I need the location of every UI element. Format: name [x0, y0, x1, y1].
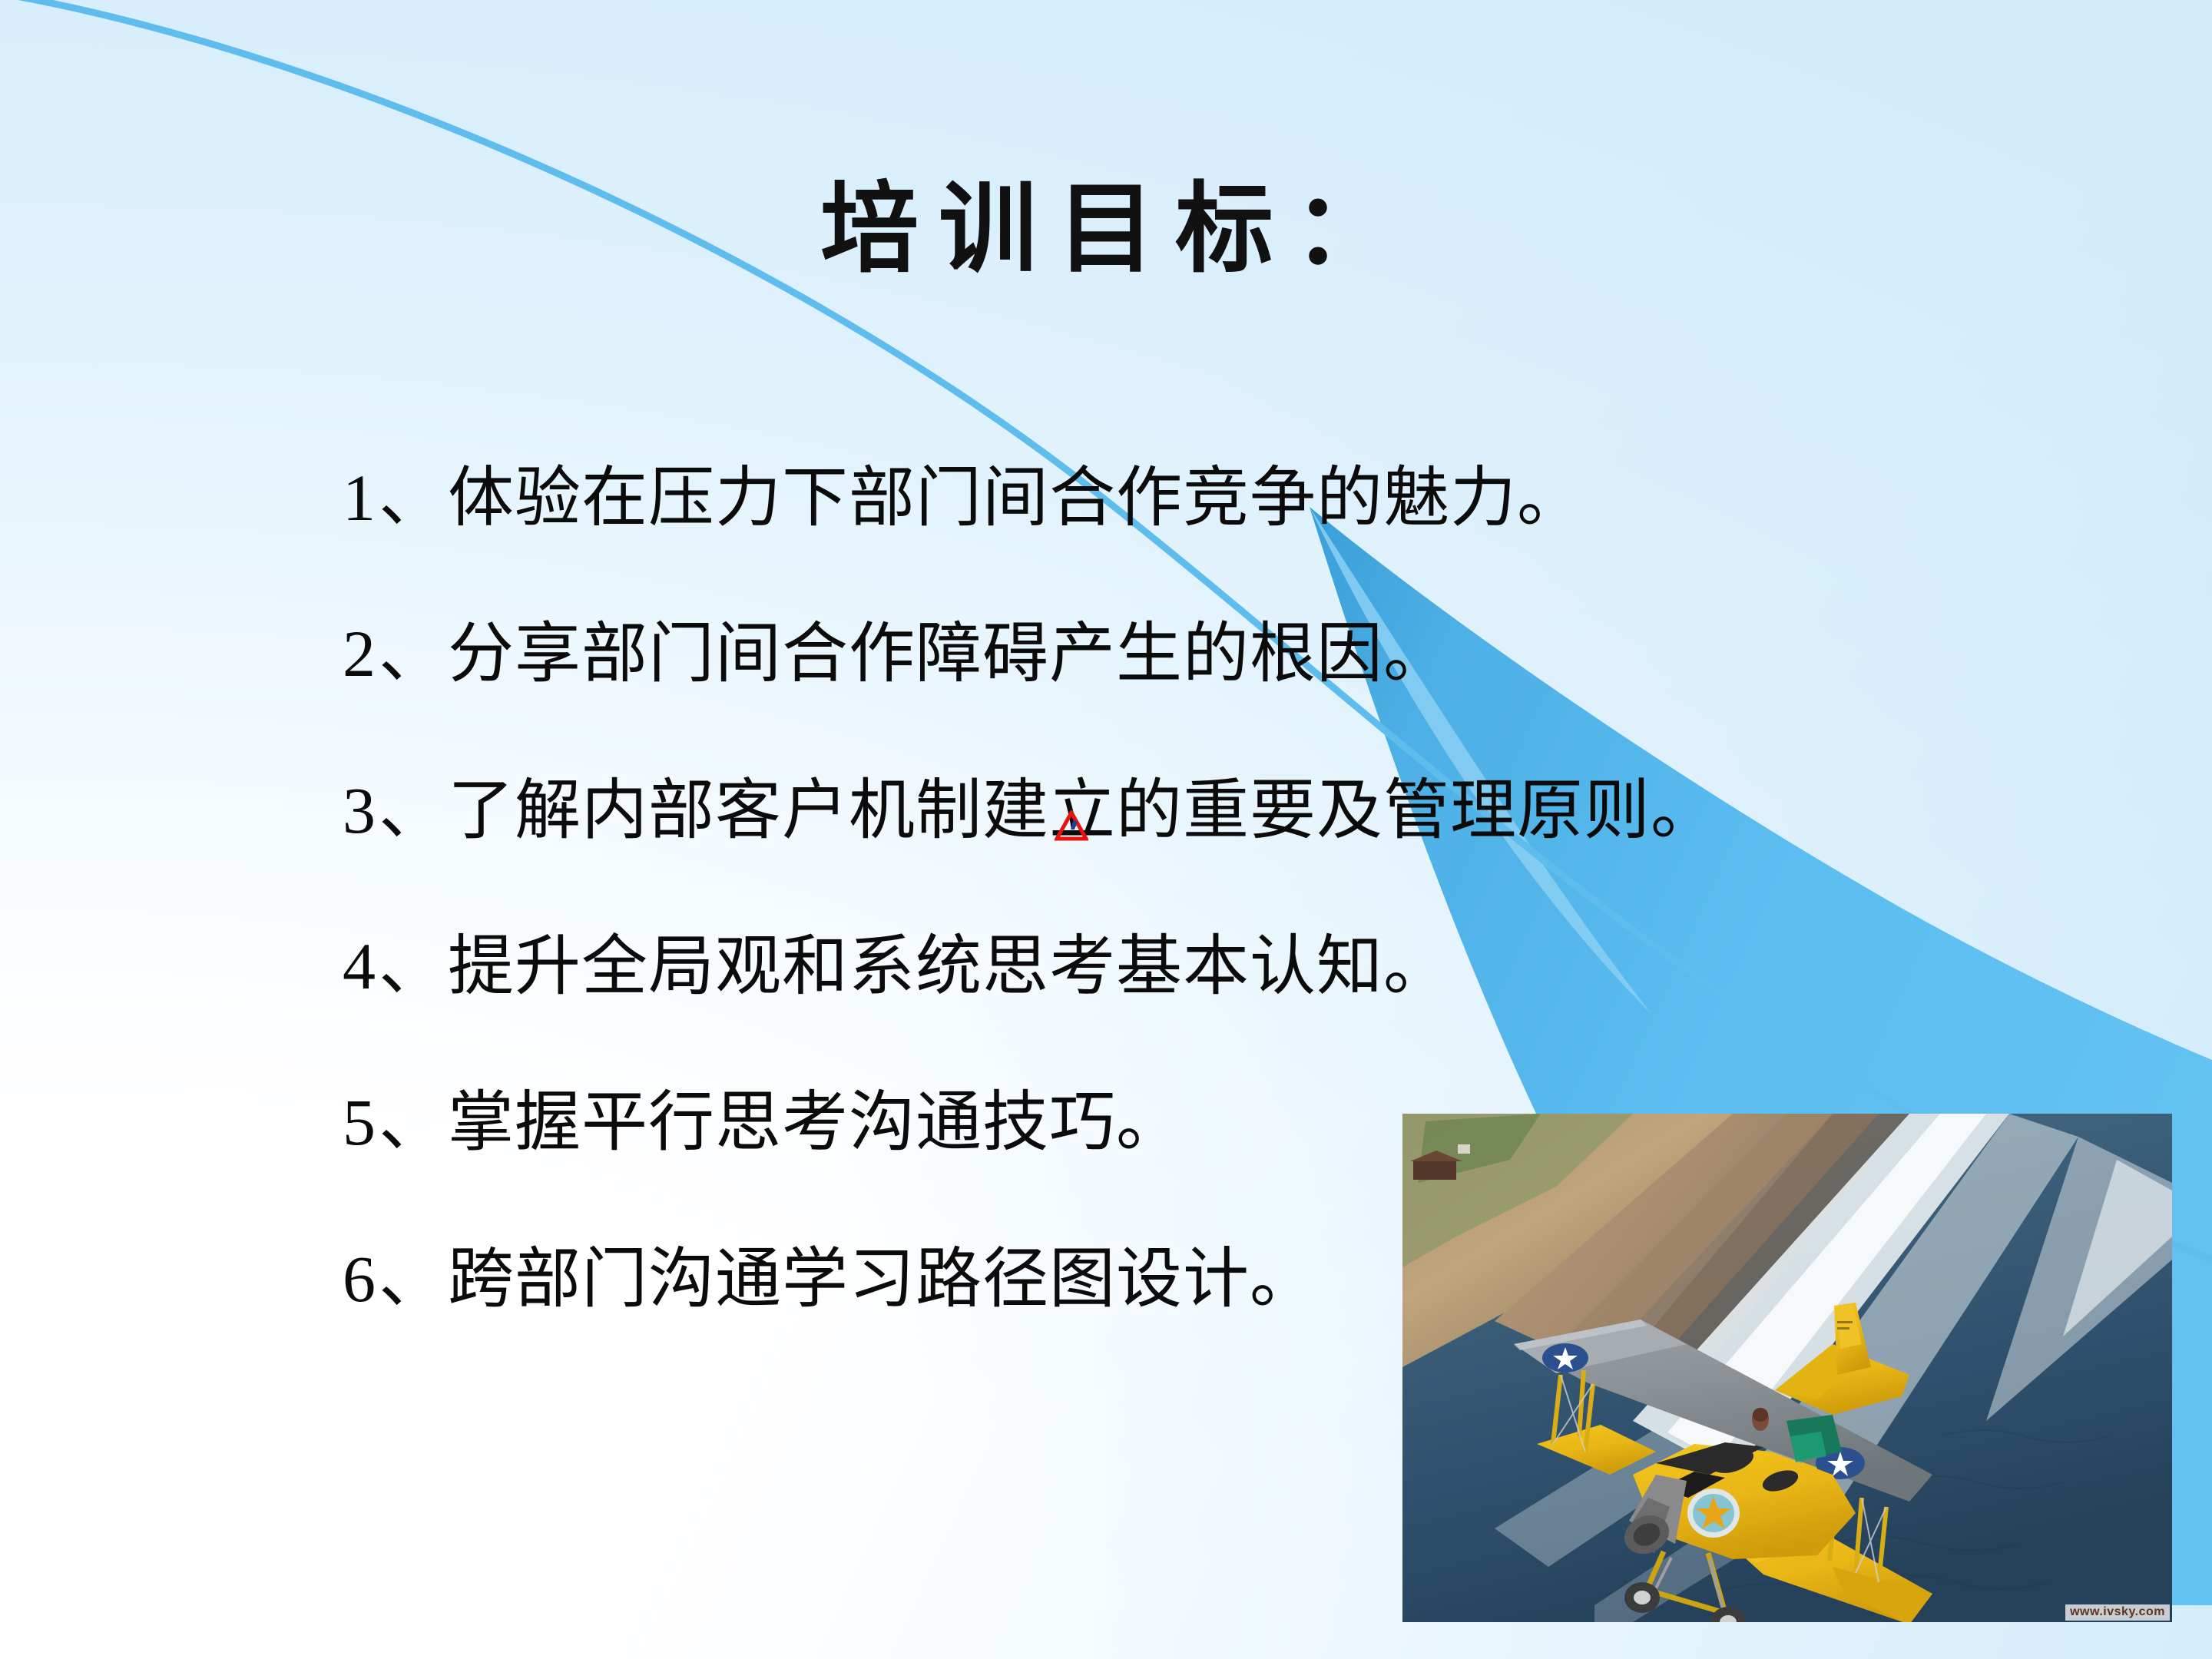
- photo-watermark: www.ivsky.com: [2065, 1604, 2170, 1621]
- list-item-number: 6、: [343, 1242, 448, 1316]
- list-item-label: 跨部门沟通学习路径图设计。: [448, 1242, 1316, 1316]
- list-item: 6、跨部门沟通学习路径图设计。: [343, 1242, 1725, 1316]
- list-item-number: 5、: [343, 1085, 448, 1159]
- list-item-label: 掌握平行思考沟通技巧。: [448, 1085, 1183, 1159]
- list-item-number: 4、: [343, 929, 448, 1003]
- list-item-label: 提升全局观和系统思考基本认知。: [448, 929, 1450, 1003]
- list-item: 2、分享部门间合作障碍产生的根因。: [343, 617, 1725, 690]
- list-item-number: 3、: [343, 773, 448, 847]
- list-item: 1、体验在压力下部门间合作竞争的魅力。: [343, 461, 1725, 535]
- list-item-label: 分享部门间合作障碍产生的根因。: [448, 617, 1450, 690]
- slide-canvas: 培训目标： 1、体验在压力下部门间合作竞争的魅力。 2、分享部门间合作障碍产生的…: [0, 0, 2212, 1659]
- list-item: 3、了解内部客户机制建立的重要及管理原则。: [343, 773, 1725, 847]
- red-triangle-marker-icon: [1055, 810, 1088, 841]
- objectives-list: 1、体验在压力下部门间合作竞争的魅力。 2、分享部门间合作障碍产生的根因。 3、…: [343, 461, 1725, 1316]
- list-item: 5、掌握平行思考沟通技巧。: [343, 1085, 1725, 1159]
- list-item-number: 2、: [343, 617, 448, 690]
- page-title: 培训目标：: [0, 178, 2212, 281]
- list-item-number: 1、: [343, 461, 448, 535]
- list-item-label: 体验在压力下部门间合作竞争的魅力。: [448, 461, 1584, 535]
- list-item: 4、提升全局观和系统思考基本认知。: [343, 929, 1725, 1003]
